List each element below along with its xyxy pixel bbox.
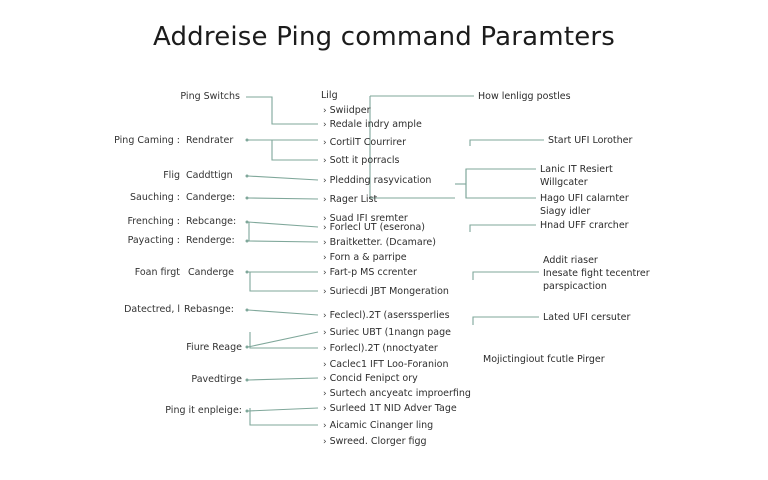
middle-list-item[interactable]: ›Forlecl UT (eserona)	[323, 221, 425, 235]
chevron-right-icon: ›	[323, 120, 327, 130]
middle-list-item[interactable]: ›Fart-p MS ccrenter	[323, 266, 417, 280]
middle-list-item[interactable]: ›Suriecdi JBT Mongeration	[323, 285, 449, 299]
right-label[interactable]: Hago UFI calarnter Siagy idler	[540, 192, 629, 218]
middle-list-item[interactable]: ›Pledding rasyvication	[323, 174, 431, 188]
chevron-right-icon: ›	[323, 238, 327, 248]
chevron-right-icon: ›	[323, 195, 327, 205]
middle-list-item[interactable]: ›Forlecl).2T (nnoctyater	[323, 342, 438, 356]
left-label-part2[interactable]: Fiure Reage	[168, 341, 242, 354]
middle-list-item[interactable]: ›Aicamic Cinanger ling	[323, 419, 433, 433]
chevron-right-icon: ›	[323, 156, 327, 166]
right-label[interactable]: Addit riaser Inesate fight tecentrer par…	[543, 254, 650, 293]
middle-list-item[interactable]: ›Swreed. Clorger figg	[323, 435, 427, 449]
left-label-part1[interactable]: Datectred, l	[40, 303, 180, 316]
right-label[interactable]: Start UFI Lorother	[548, 134, 632, 147]
middle-list-item[interactable]: ›Forn a & parripe	[323, 251, 407, 265]
chevron-right-icon: ›	[323, 311, 327, 321]
middle-list-item[interactable]: ›Braitketter. (Dcamare)	[323, 236, 436, 250]
chevron-right-icon: ›	[323, 106, 327, 116]
left-label-part2[interactable]: Canderge:	[186, 191, 242, 204]
left-label-part1[interactable]: Sauching :	[60, 191, 180, 204]
chevron-right-icon: ›	[323, 344, 327, 354]
middle-heading: Lilg	[321, 89, 338, 102]
chevron-right-icon: ›	[323, 421, 327, 431]
middle-list-item[interactable]: ›Redale indry ample	[323, 118, 422, 132]
chevron-right-icon: ›	[323, 287, 327, 297]
middle-list-item[interactable]: ›Surleed 1T NID Adver Tage	[323, 402, 457, 416]
middle-list-item[interactable]: ›Rager List	[323, 193, 377, 207]
right-label[interactable]: Lanic IT Resiert Willgcater	[540, 163, 613, 189]
middle-list-item[interactable]: ›Concid Fenipct ory	[323, 372, 418, 386]
chevron-right-icon: ›	[323, 138, 327, 148]
chevron-right-icon: ›	[323, 176, 327, 186]
left-label-part2[interactable]: Rebcange:	[186, 215, 242, 228]
left-label-part2[interactable]: Pavedtirge	[168, 373, 242, 386]
left-label-part1[interactable]: Foan firgt	[50, 266, 180, 279]
right-label[interactable]: How lenligg postles	[478, 90, 571, 103]
chevron-right-icon: ›	[323, 404, 327, 414]
middle-list-item[interactable]: ›Suriec UBT (1nangn page	[323, 326, 451, 340]
middle-list-item[interactable]: ›Sott it porracls	[323, 154, 399, 168]
chevron-right-icon: ›	[323, 268, 327, 278]
left-label-part2[interactable]: Caddttign	[186, 169, 242, 182]
diagram-canvas: Addreise Ping command Paramters	[0, 0, 768, 480]
chevron-right-icon: ›	[323, 437, 327, 447]
chevron-right-icon: ›	[323, 253, 327, 263]
middle-list-item[interactable]: ›Surtech ancyeatc improerfing	[323, 387, 471, 401]
right-label[interactable]: Hnad UFF crarcher	[540, 219, 629, 232]
chevron-right-icon: ›	[323, 328, 327, 338]
middle-list-item[interactable]: ›CortilT Courrirer	[323, 136, 406, 150]
middle-list-item[interactable]: ›Swiidper	[323, 104, 371, 118]
left-label-part2[interactable]: Ping Switchs	[176, 90, 240, 103]
left-label-part1[interactable]: Ping Caming :	[40, 134, 180, 147]
left-label-part1[interactable]: Payacting :	[55, 234, 180, 247]
left-label-part1[interactable]: Flig	[80, 169, 180, 182]
diagram-caption: Mojictingiout fcutle Pirger	[483, 353, 605, 366]
middle-list-item[interactable]: ›Caclec1 IFT Loo-Foranion	[323, 358, 449, 372]
left-label-part2[interactable]: Rebasnge:	[184, 303, 242, 316]
chevron-right-icon: ›	[323, 223, 327, 233]
left-label-part1[interactable]: Frenching :	[55, 215, 180, 228]
chevron-right-icon: ›	[323, 389, 327, 399]
left-label-part2[interactable]: Renderge:	[186, 234, 242, 247]
left-label-part2[interactable]: Ping it enpleige:	[142, 404, 242, 417]
chevron-right-icon: ›	[323, 360, 327, 370]
middle-list-item[interactable]: ›Feclecl).2T (aserssperlies	[323, 309, 450, 323]
chevron-right-icon: ›	[323, 374, 327, 384]
left-label-part2[interactable]: Canderge	[188, 266, 244, 279]
left-label-part2[interactable]: Rendrater	[186, 134, 242, 147]
right-label[interactable]: Lated UFI cersuter	[543, 311, 630, 324]
